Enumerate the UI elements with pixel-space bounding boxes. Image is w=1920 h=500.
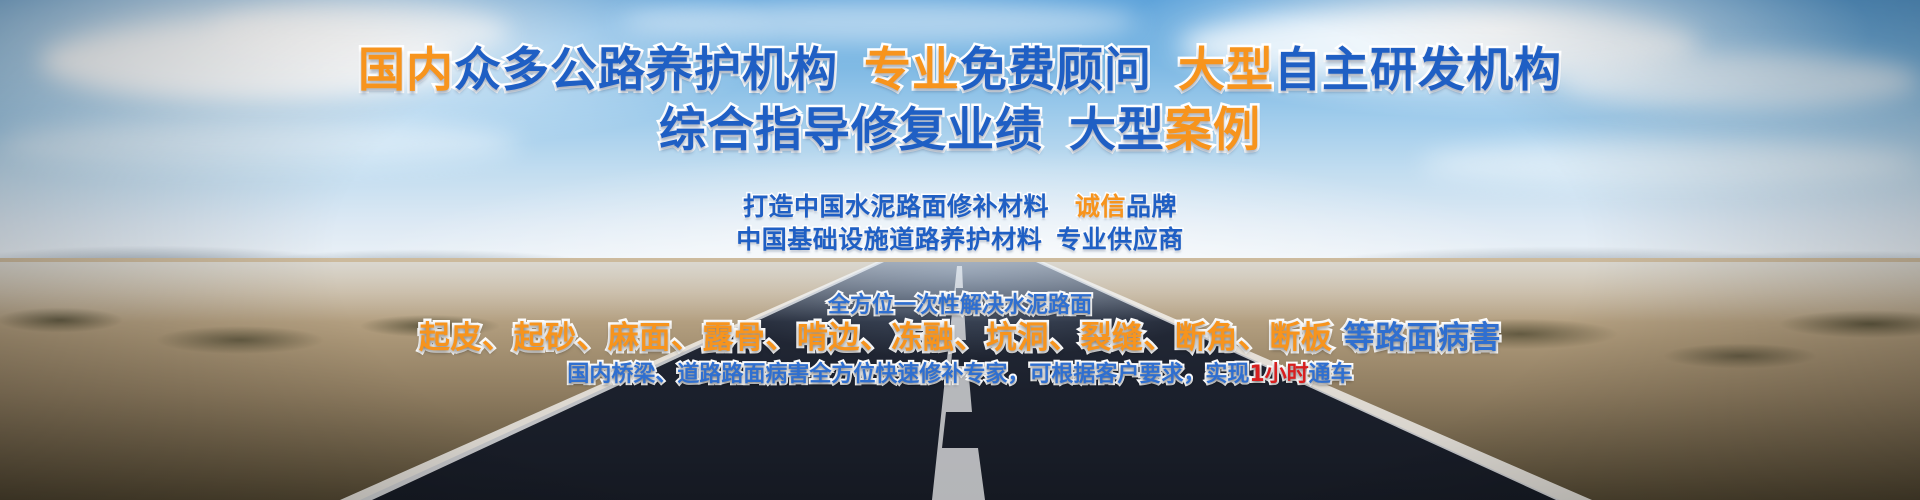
subhead-seg: 品牌 bbox=[1126, 192, 1177, 221]
bottom-closing-line: 国内桥梁、道路路面病害全方位快速修补专家，可根据客户要求，实现1小时通车 bbox=[0, 360, 1920, 389]
defect-list: 起皮、起砂、麻面、露骨、啃边、冻融、坑洞、裂缝、断角、断板 bbox=[419, 320, 1333, 356]
subhead-seg: 专业供应商 bbox=[1056, 225, 1184, 254]
headline-seg: 大型 bbox=[1178, 43, 1274, 98]
subhead-seg: 诚信 bbox=[1075, 192, 1126, 221]
closing-highlight: 1小时 bbox=[1249, 362, 1308, 387]
closing-seg: 国内桥梁、道路路面病害全方位快速修补专家，可根据客户要求，实现 bbox=[567, 362, 1249, 387]
subhead-line-2: 中国基础设施道路养护材料专业供应商 bbox=[0, 223, 1920, 256]
bottom-lead-line: 全方位一次性解决水泥路面 bbox=[0, 292, 1920, 320]
subhead-seg: 中国基础设施道路养护材料 bbox=[736, 225, 1042, 254]
headline-line-1: 国内众多公路养护机构专业免费顾问大型自主研发机构 bbox=[0, 44, 1920, 98]
headline-line-2: 综合指导修复业绩大型案例 bbox=[0, 104, 1920, 158]
headline-seg: 综合指导修复业绩 bbox=[659, 103, 1043, 158]
defect-suffix: 等路面病害 bbox=[1332, 320, 1501, 356]
headline-seg: 众多公路养护机构 bbox=[454, 43, 838, 98]
banner-copy: 国内众多公路养护机构专业免费顾问大型自主研发机构 综合指导修复业绩大型案例 打造… bbox=[0, 0, 1920, 500]
headline-seg: 国内 bbox=[358, 43, 454, 98]
headline-seg: 自主研发机构 bbox=[1274, 43, 1562, 98]
headline-seg: 免费顾问 bbox=[960, 43, 1152, 98]
headline-seg: 案例 bbox=[1165, 103, 1261, 158]
bottom-defects-line: 起皮、起砂、麻面、露骨、啃边、冻融、坑洞、裂缝、断角、断板 等路面病害 bbox=[0, 318, 1920, 358]
headline-seg: 专业 bbox=[864, 43, 960, 98]
closing-seg: 通车 bbox=[1309, 362, 1353, 387]
subhead-line-1: 打造中国水泥路面修补材料诚信品牌 bbox=[0, 190, 1920, 223]
promo-banner: 国内众多公路养护机构专业免费顾问大型自主研发机构 综合指导修复业绩大型案例 打造… bbox=[0, 0, 1920, 500]
bottom-lead-text: 全方位一次性解决水泥路面 bbox=[828, 293, 1092, 318]
headline-seg: 大型 bbox=[1069, 103, 1165, 158]
subhead-seg: 打造中国水泥路面修补材料 bbox=[743, 192, 1049, 221]
